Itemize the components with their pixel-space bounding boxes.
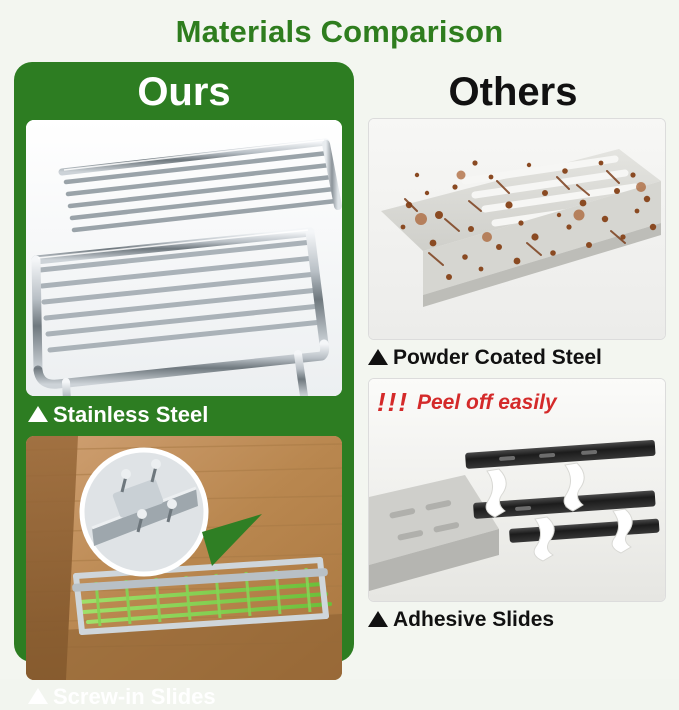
others-caption-top-label: Powder Coated Steel	[393, 346, 602, 370]
ours-image-stainless-steel	[26, 120, 342, 396]
peel-warning: !!! Peel off easily	[377, 387, 657, 418]
ours-caption-top-label: Stainless Steel	[53, 402, 208, 428]
comparison-infographic: Materials Comparison Ours	[0, 0, 679, 679]
ours-heading: Ours	[14, 66, 354, 118]
ours-panel: Ours	[14, 62, 354, 662]
ours-caption-bottom-label: Screw-in Slides	[53, 684, 216, 710]
others-image-adhesive-slides: !!! Peel off easily	[368, 378, 666, 602]
ours-caption-screw-in-slides: Screw-in Slides	[28, 684, 348, 710]
triangle-up-icon	[28, 406, 48, 422]
exclamation-marks: !!!	[377, 387, 409, 418]
others-caption-adhesive-slides: Adhesive Slides	[368, 608, 668, 632]
triangle-up-icon	[28, 688, 48, 704]
others-caption-powder-coated-steel: Powder Coated Steel	[368, 346, 668, 370]
ours-image-screw-in-slides	[26, 436, 342, 680]
triangle-up-icon	[368, 611, 388, 627]
others-image-powder-coated-steel	[368, 118, 666, 340]
triangle-up-icon	[368, 349, 388, 365]
peel-warning-label: Peel off easily	[417, 391, 557, 415]
page-title: Materials Comparison	[0, 14, 679, 50]
others-heading: Others	[360, 66, 666, 118]
ours-caption-stainless-steel: Stainless Steel	[28, 402, 348, 428]
others-caption-bottom-label: Adhesive Slides	[393, 608, 554, 632]
